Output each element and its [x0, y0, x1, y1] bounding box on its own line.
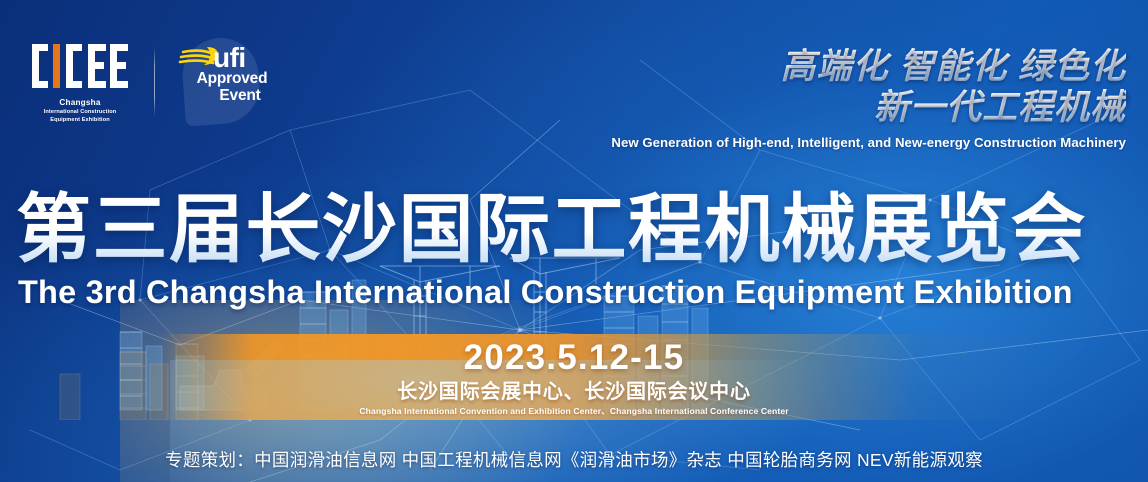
- slogan-block: 高端化 智能化 绿色化 新一代工程机械 New Generation of Hi…: [611, 46, 1126, 150]
- event-date: 2023.5.12-15: [0, 338, 1148, 378]
- ufi-wordmark: ufi: [213, 44, 246, 72]
- date-venue-block: 2023.5.12-15 长沙国际会展中心、长沙国际会议中心 Changsha …: [0, 338, 1148, 417]
- slogan-chinese-line2: 新一代工程机械: [611, 87, 1126, 128]
- cicee-subtitle: Changsha International Construction Equi…: [30, 98, 130, 124]
- slogan-chinese-line1: 高端化 智能化 绿色化: [611, 46, 1126, 87]
- ufi-event-text: Event: [197, 87, 283, 104]
- ufi-approved-text: Approved: [189, 70, 275, 87]
- exhibition-banner: Changsha International Construction Equi…: [0, 0, 1148, 482]
- venue-english: Changsha International Convention and Ex…: [0, 405, 1148, 417]
- cicee-sub-line2: International Construction: [30, 108, 130, 116]
- cicee-logo[interactable]: Changsha International Construction Equi…: [30, 42, 130, 122]
- cicee-wordmark-icon: [30, 42, 130, 90]
- cicee-sub-line3: Equipment Exhibition: [30, 116, 130, 124]
- logo-row: Changsha International Construction Equi…: [30, 40, 277, 124]
- page-title-english: The 3rd Changsha International Construct…: [18, 273, 1138, 311]
- page-title-chinese: 第三届长沙国际工程机械展览会: [16, 188, 1136, 270]
- credits-line: 专题策划：中国润滑油信息网 中国工程机械信息网《润滑油市场》杂志 中国轮胎商务网…: [0, 448, 1148, 472]
- ufi-approved-event-logo[interactable]: ufi Approved Event: [177, 40, 277, 124]
- venue-chinese: 长沙国际会展中心、长沙国际会议中心: [0, 379, 1148, 405]
- slogan-english: New Generation of High-end, Intelligent,…: [611, 135, 1126, 150]
- cicee-sub-line1: Changsha: [30, 98, 130, 108]
- logo-divider: [154, 47, 155, 117]
